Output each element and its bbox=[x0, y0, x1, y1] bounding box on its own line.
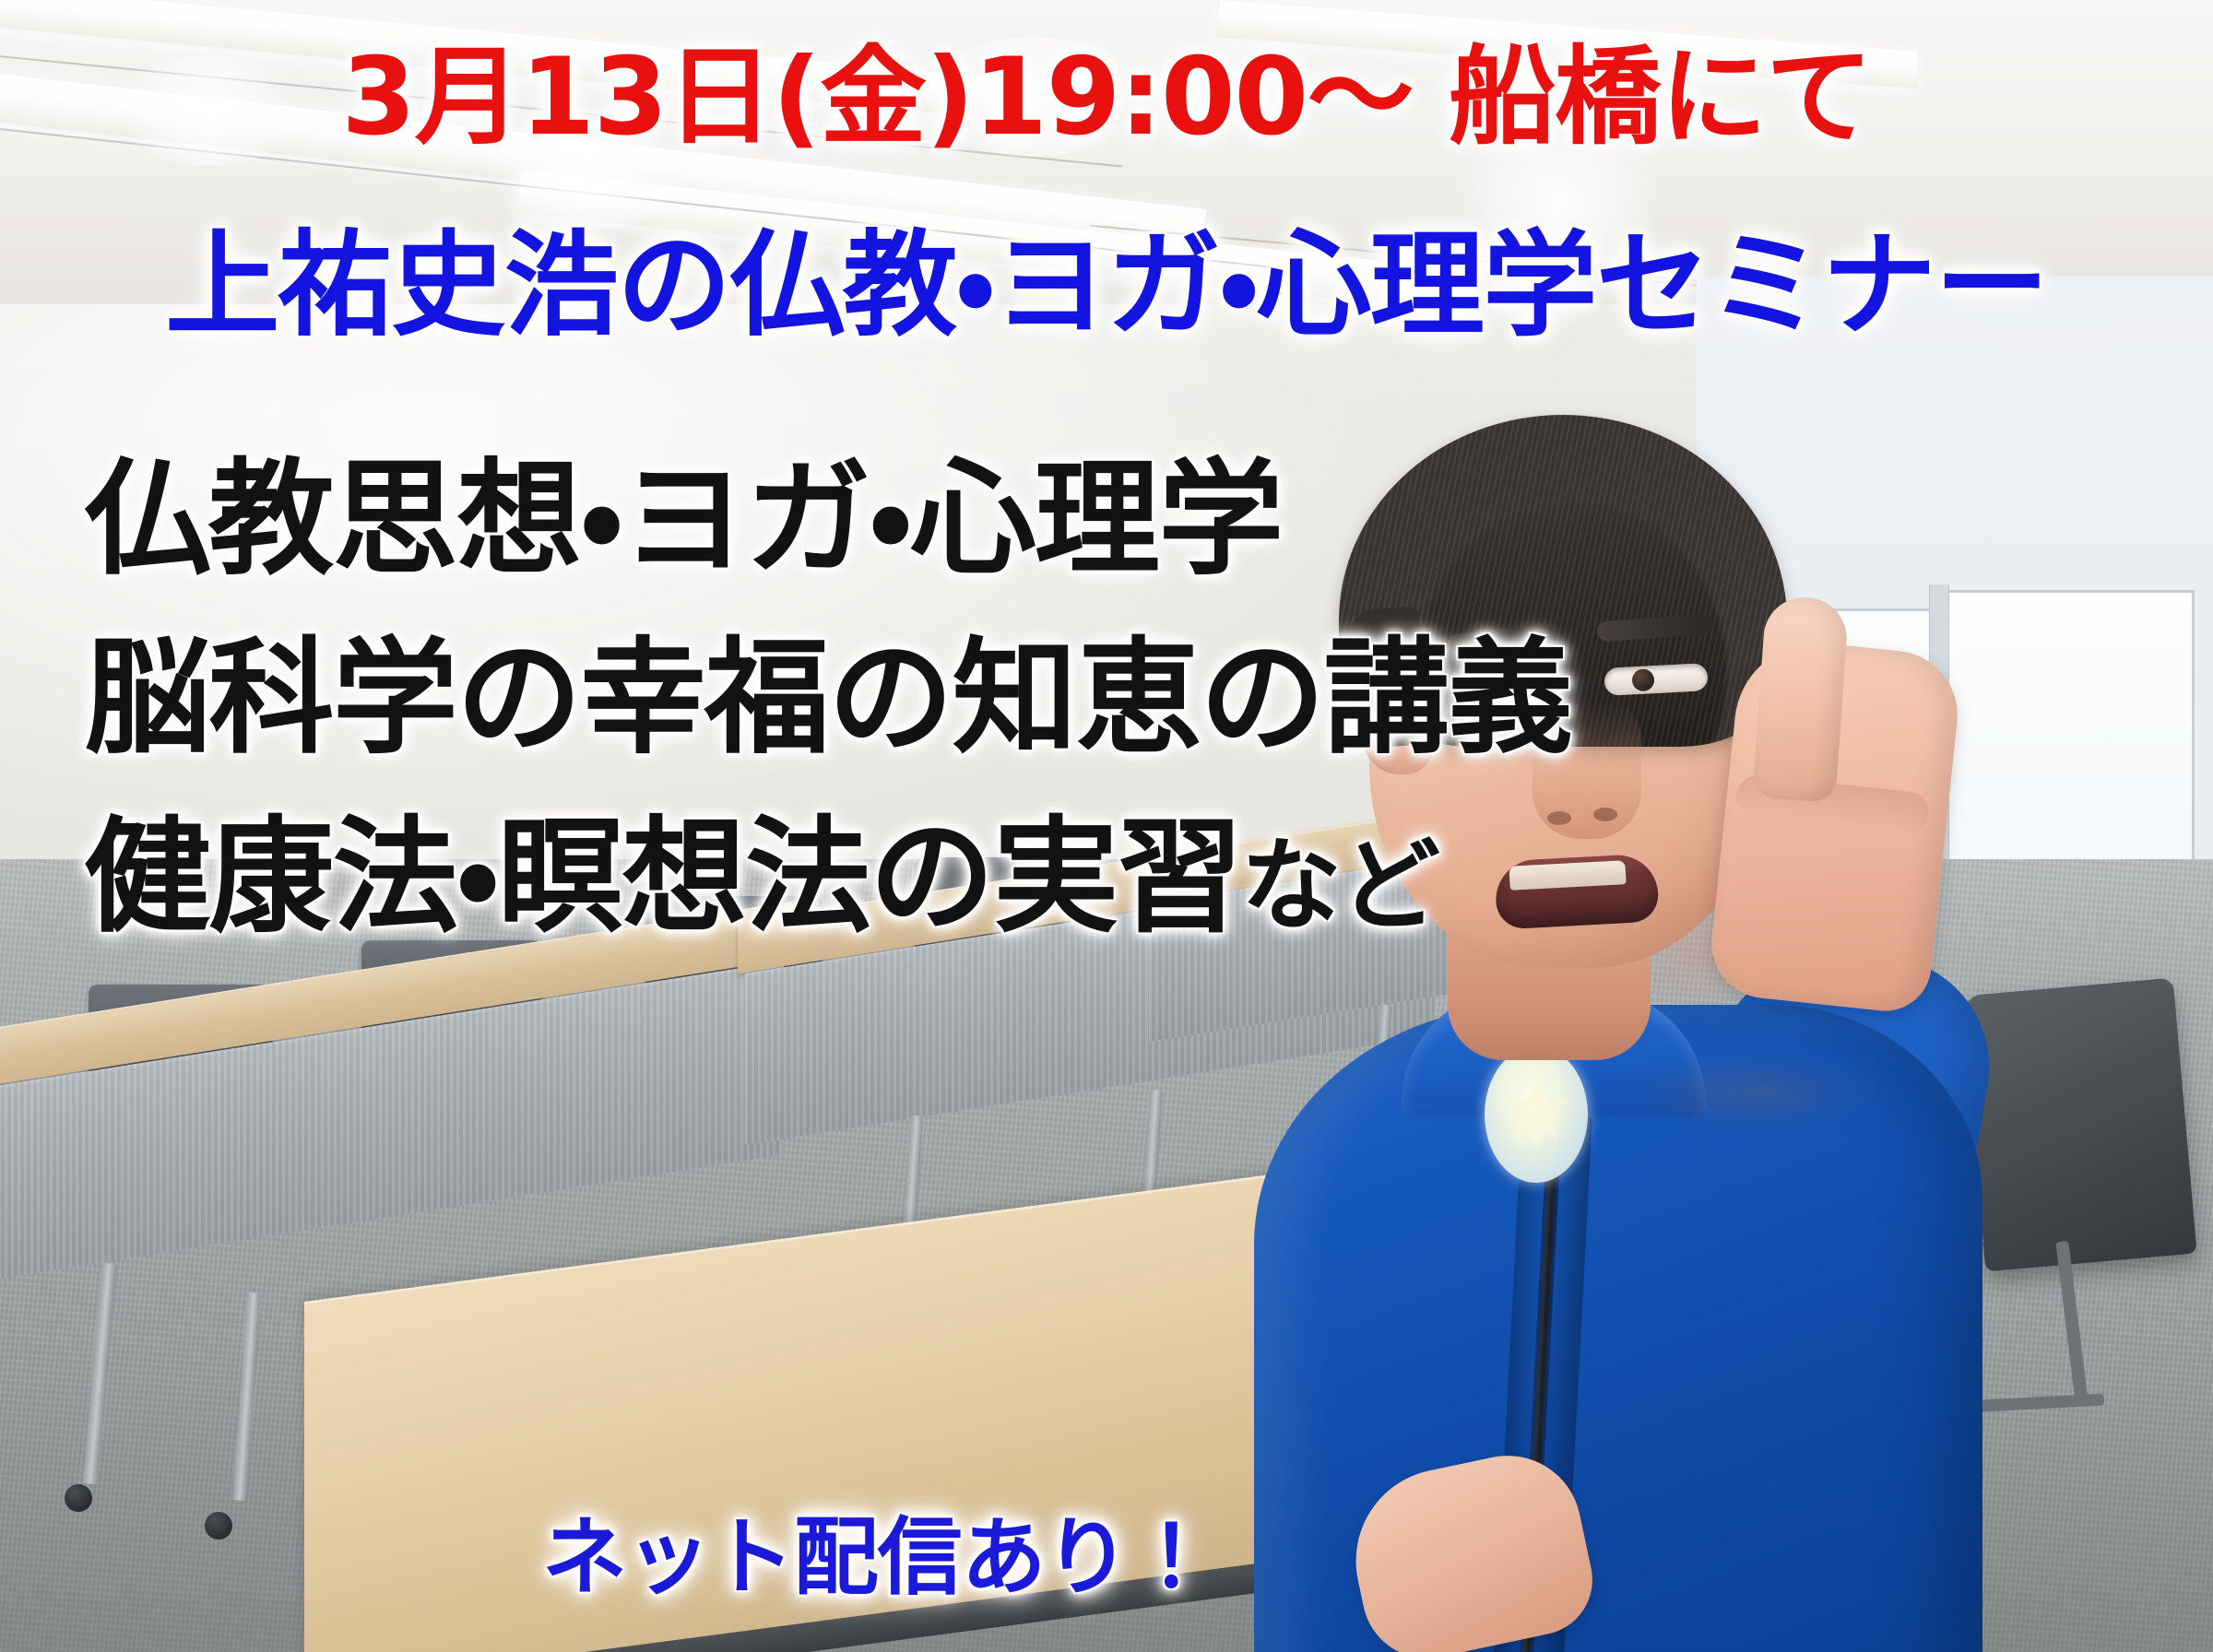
poster-canvas: 3月13日(金)19:00〜 船橋にて 上祐史浩の仏教・ヨガ・心理学セミナー 仏… bbox=[0, 0, 2213, 1652]
mouth bbox=[1494, 853, 1660, 929]
ceiling-downlight bbox=[111, 55, 304, 166]
pointing-index-finger bbox=[1752, 595, 1849, 803]
topic-line-2-main: 脳科学の幸福の知恵の講義 bbox=[85, 626, 1571, 772]
seminar-title: 上祐史浩の仏教・ヨガ・心理学セミナー bbox=[165, 229, 2048, 343]
topic-line-3: 健康法・瞑想法の実習など bbox=[85, 815, 1438, 940]
six-pointed-star-badge bbox=[1485, 1046, 1588, 1183]
topic-line-1: 仏教思想・ヨガ・心理学 bbox=[85, 457, 1283, 583]
online-streaming-note: ネット配信あり！ bbox=[542, 1516, 1213, 1600]
topic-line-3-suffix: など bbox=[1241, 827, 1438, 944]
topic-line-2: 脳科学の幸福の知恵の講義 bbox=[85, 636, 1571, 761]
eye bbox=[1604, 663, 1708, 696]
event-date-heading: 3月13日(金)19:00〜 船橋にて bbox=[341, 44, 1871, 151]
speaker-figure bbox=[1171, 304, 2213, 1652]
chin-shading bbox=[1637, 1051, 1876, 1134]
topic-line-1-main: 仏教思想・ヨガ・心理学 bbox=[85, 447, 1283, 593]
topic-line-3-main: 健康法・瞑想法の実習 bbox=[85, 805, 1241, 950]
